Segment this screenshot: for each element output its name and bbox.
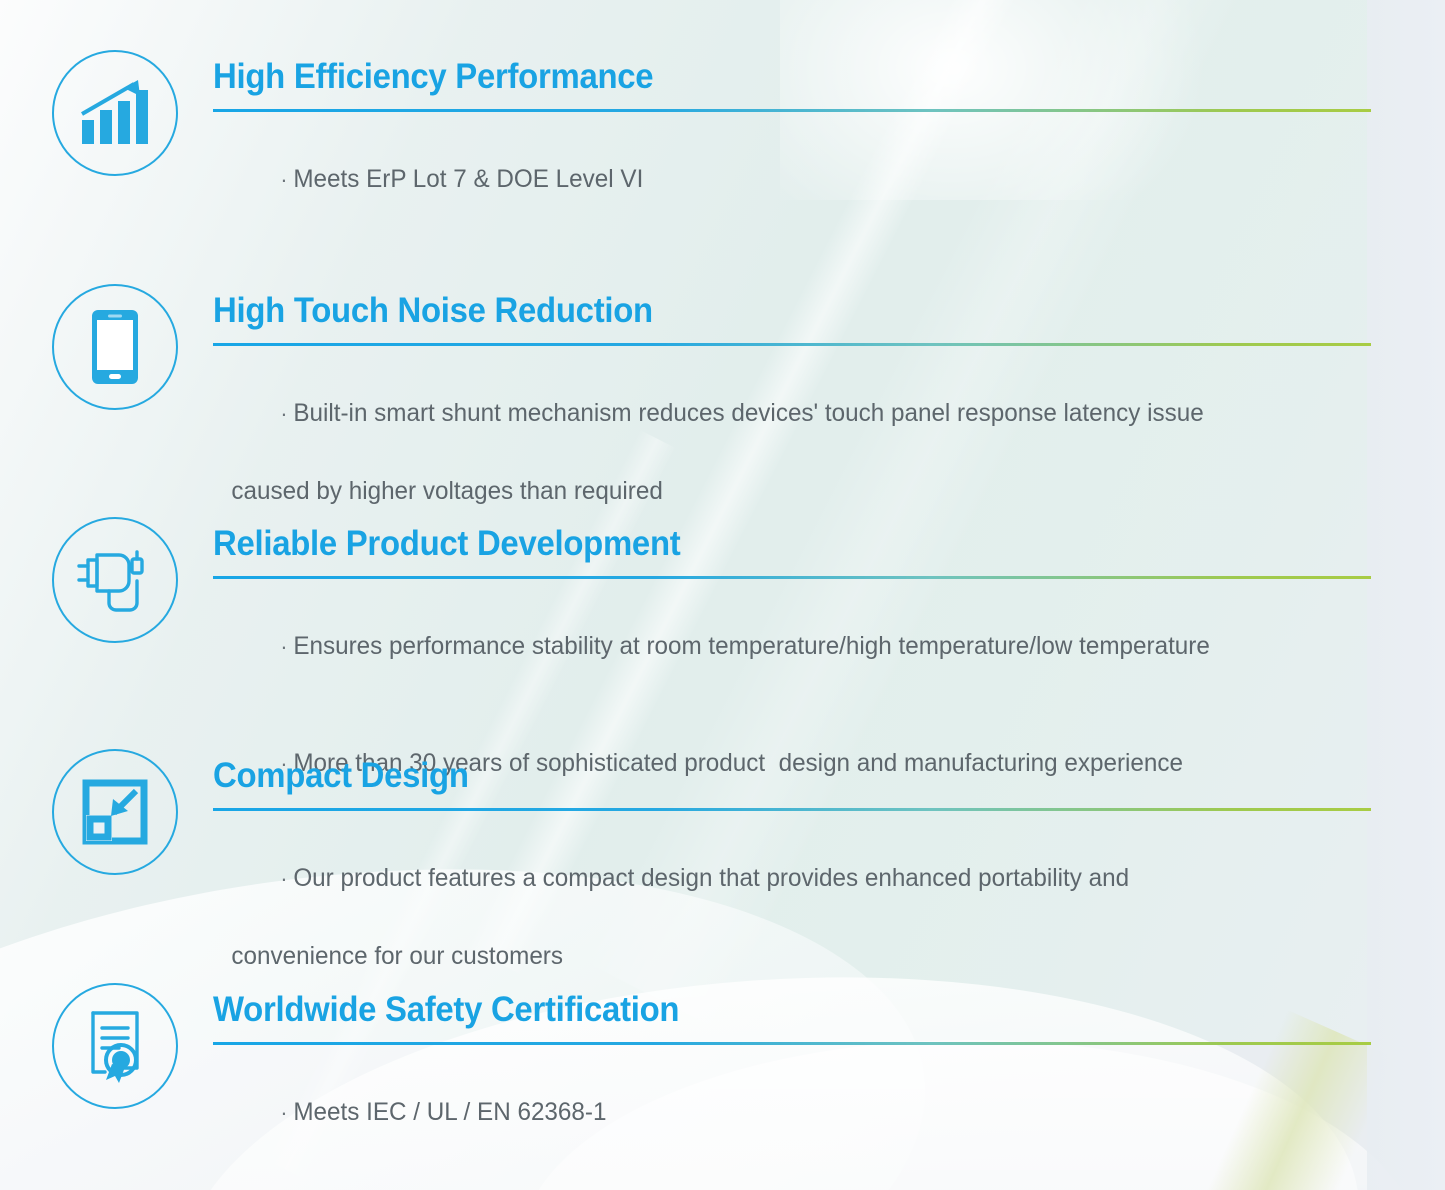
feature-text: Our product features a compact design th…: [293, 864, 1129, 892]
feature-divider: [213, 808, 1371, 811]
feature-text-line: ·Meets ErP Lot 7 & DOE Level VI: [213, 121, 1336, 238]
power-adapter-icon: [52, 517, 178, 643]
feature-divider: [213, 109, 1371, 112]
bar-chart-growth-icon: [52, 50, 178, 176]
feature-body: High Efficiency Performance ·Meets ErP L…: [213, 50, 1371, 238]
feature-divider: [213, 576, 1371, 579]
feature-text: Meets IEC / UL / EN 62368-1: [293, 1098, 606, 1126]
feature-divider: [213, 343, 1371, 346]
bullet-marker: ·: [280, 401, 287, 426]
feature-title: High Efficiency Performance: [213, 56, 1302, 98]
feature-title: Reliable Product Development: [213, 523, 1302, 565]
feature-body: Worldwide Safety Certification ·Meets IE…: [213, 983, 1371, 1171]
smartphone-icon: [52, 284, 178, 410]
compact-resize-icon: [52, 749, 178, 875]
bullet-marker: ·: [280, 167, 287, 192]
feature-highlights-page: High Efficiency Performance ·Meets ErP L…: [0, 0, 1445, 1190]
feature-text: Ensures performance stability at room te…: [293, 632, 1210, 660]
background-right-edge: [1367, 0, 1445, 1190]
certificate-seal-icon: [52, 983, 178, 1109]
feature-text-line: ·Meets IEC / UL / EN 62368-1: [213, 1054, 1336, 1171]
feature-title: Worldwide Safety Certification: [213, 989, 1302, 1031]
bullet-marker: ·: [280, 1100, 287, 1125]
feature-title: Compact Design: [213, 755, 1302, 797]
feature-title: High Touch Noise Reduction: [213, 290, 1302, 332]
feature-text: Built-in smart shunt mechanism reduces d…: [293, 399, 1203, 427]
feature-text: Meets ErP Lot 7 & DOE Level VI: [293, 165, 643, 193]
bullet-marker: ·: [280, 634, 287, 659]
bullet-marker: ·: [280, 866, 287, 891]
feature-text-line: ·Ensures performance stability at room t…: [213, 588, 1336, 705]
feature-text-continuation: caused by higher voltages than required: [213, 472, 1336, 511]
feature-divider: [213, 1042, 1371, 1045]
feature-item-worldwide-safety-certification: Worldwide Safety Certification ·Meets IE…: [52, 983, 1371, 1171]
feature-text-continuation: convenience for our customers: [213, 937, 1336, 976]
feature-item-high-efficiency-performance: High Efficiency Performance ·Meets ErP L…: [52, 50, 1371, 238]
